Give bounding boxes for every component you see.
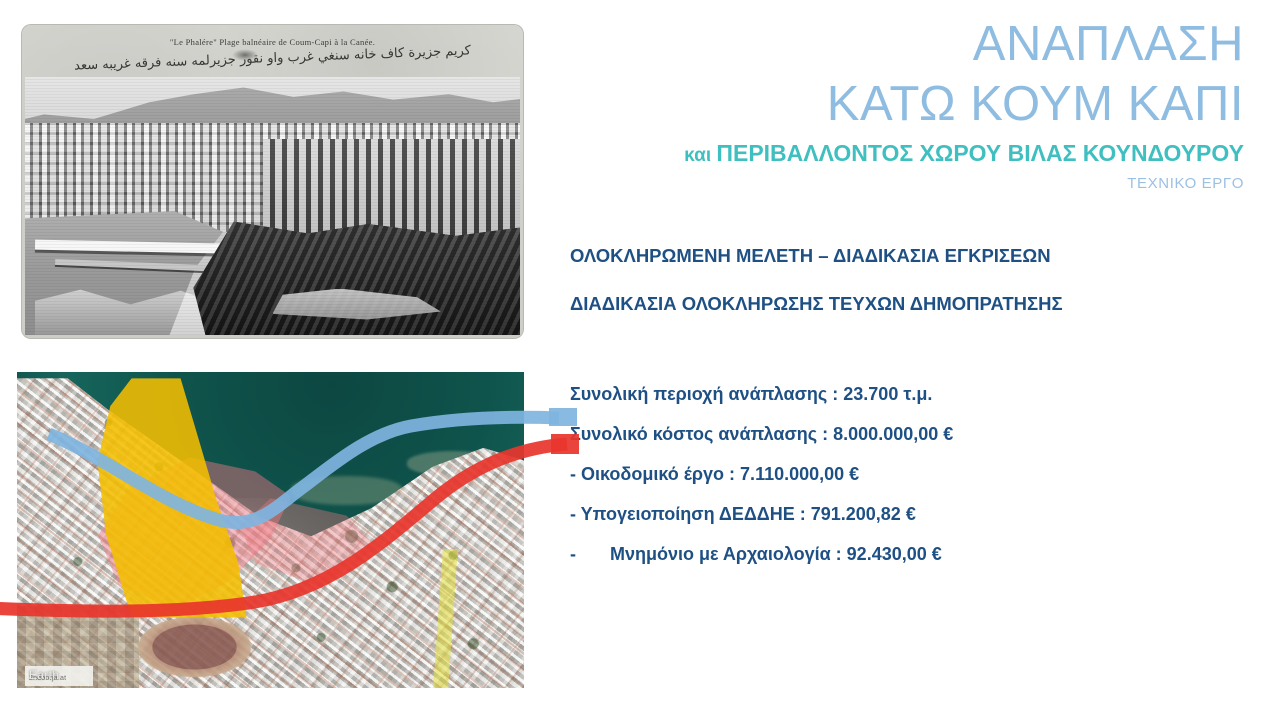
heading-approvals-process: ΟΛΟΚΛΗΡΩΜΕΝΗ ΜΕΛΕΤΗ – ΔΙΑΔΙΚΑΣΙΑ ΕΓΚΡΙΣΕ… xyxy=(570,232,1063,280)
map-coastline-band-endcap xyxy=(549,408,577,426)
fact-total-area: Συνολική περιοχή ανάπλασης : 23.700 τ.μ. xyxy=(570,374,953,414)
headings-block: ΟΛΟΚΛΗΡΩΜΕΝΗ ΜΕΛΕΤΗ – ΔΙΑΔΙΚΑΣΙΑ ΕΓΚΡΙΣΕ… xyxy=(570,232,1063,328)
fact-archaeology-memorandum: -Μνημόνιο με Αρχαιολογία : 92.430,00 € xyxy=(570,534,953,574)
title-block: ΑΝΑΠΛΑΣΗ ΚΑΤΩ ΚΟΥΜ ΚΑΠΙ και ΠΕΡΙΒΑΛΛΟΝΤΟ… xyxy=(484,14,1244,195)
page-subtitle-text: ΠΕΡΙΒΑΛΛΟΝΤΟΣ ΧΩΡΟΥ ΒΙΛΑΣ ΚΟΥΝΔΟΥΡΟΥ xyxy=(716,140,1244,166)
photo-film-grain xyxy=(25,77,520,335)
fact-archaeology-memorandum-text: Μνημόνιο με Αρχαιολογία : 92.430,00 € xyxy=(610,544,942,564)
map-road-band xyxy=(0,444,567,611)
postcard-photograph xyxy=(25,77,520,335)
map-road-band-endcap xyxy=(551,434,579,454)
fact-deddhe-undergrounding: - Υπογειοποίηση ΔΕΔΔΗΕ : 791.200,82 € xyxy=(570,494,953,534)
slide-root: ΑΝΑΠΛΑΣΗ ΚΑΤΩ ΚΟΥΜ ΚΑΠΙ και ΠΕΡΙΒΑΛΛΟΝΤΟ… xyxy=(0,0,1280,720)
page-title-line-2: ΚΑΤΩ ΚΟΥΜ ΚΑΠΙ xyxy=(484,74,1244,134)
historic-postcard-photo: "Le Phalére" Plage balnéaire de Coum-Cap… xyxy=(22,25,523,338)
map-overlay-bands xyxy=(0,362,587,702)
aerial-site-plan: 2ndoorja.at Earth xyxy=(17,372,524,688)
page-kicker: ΤΕΧΝΙΚΟ ΕΡΓΟ xyxy=(484,173,1244,195)
fact-building-works: - Οικοδομικό έργο : 7.110.000,00 € xyxy=(570,454,953,494)
fact-total-cost: Συνολικό κόστος ανάπλασης : 8.000.000,00… xyxy=(570,414,953,454)
page-title-line-1: ΑΝΑΠΛΑΣΗ xyxy=(484,14,1244,74)
page-subtitle: και ΠΕΡΙΒΑΛΛΟΝΤΟΣ ΧΩΡΟΥ ΒΙΛΑΣ ΚΟΥΝΔΟΥΡΟΥ xyxy=(484,138,1244,171)
facts-list: Συνολική περιοχή ανάπλασης : 23.700 τ.μ.… xyxy=(570,374,953,574)
page-subtitle-prefix: και xyxy=(684,145,716,166)
heading-tender-documents-process: ΔΙΑΔΙΚΑΣΙΑ ΟΛΟΚΛΗΡΩΣΗΣ ΤΕΥΧΩΝ ΔΗΜΟΠΡΑΤΗΣ… xyxy=(570,280,1063,328)
